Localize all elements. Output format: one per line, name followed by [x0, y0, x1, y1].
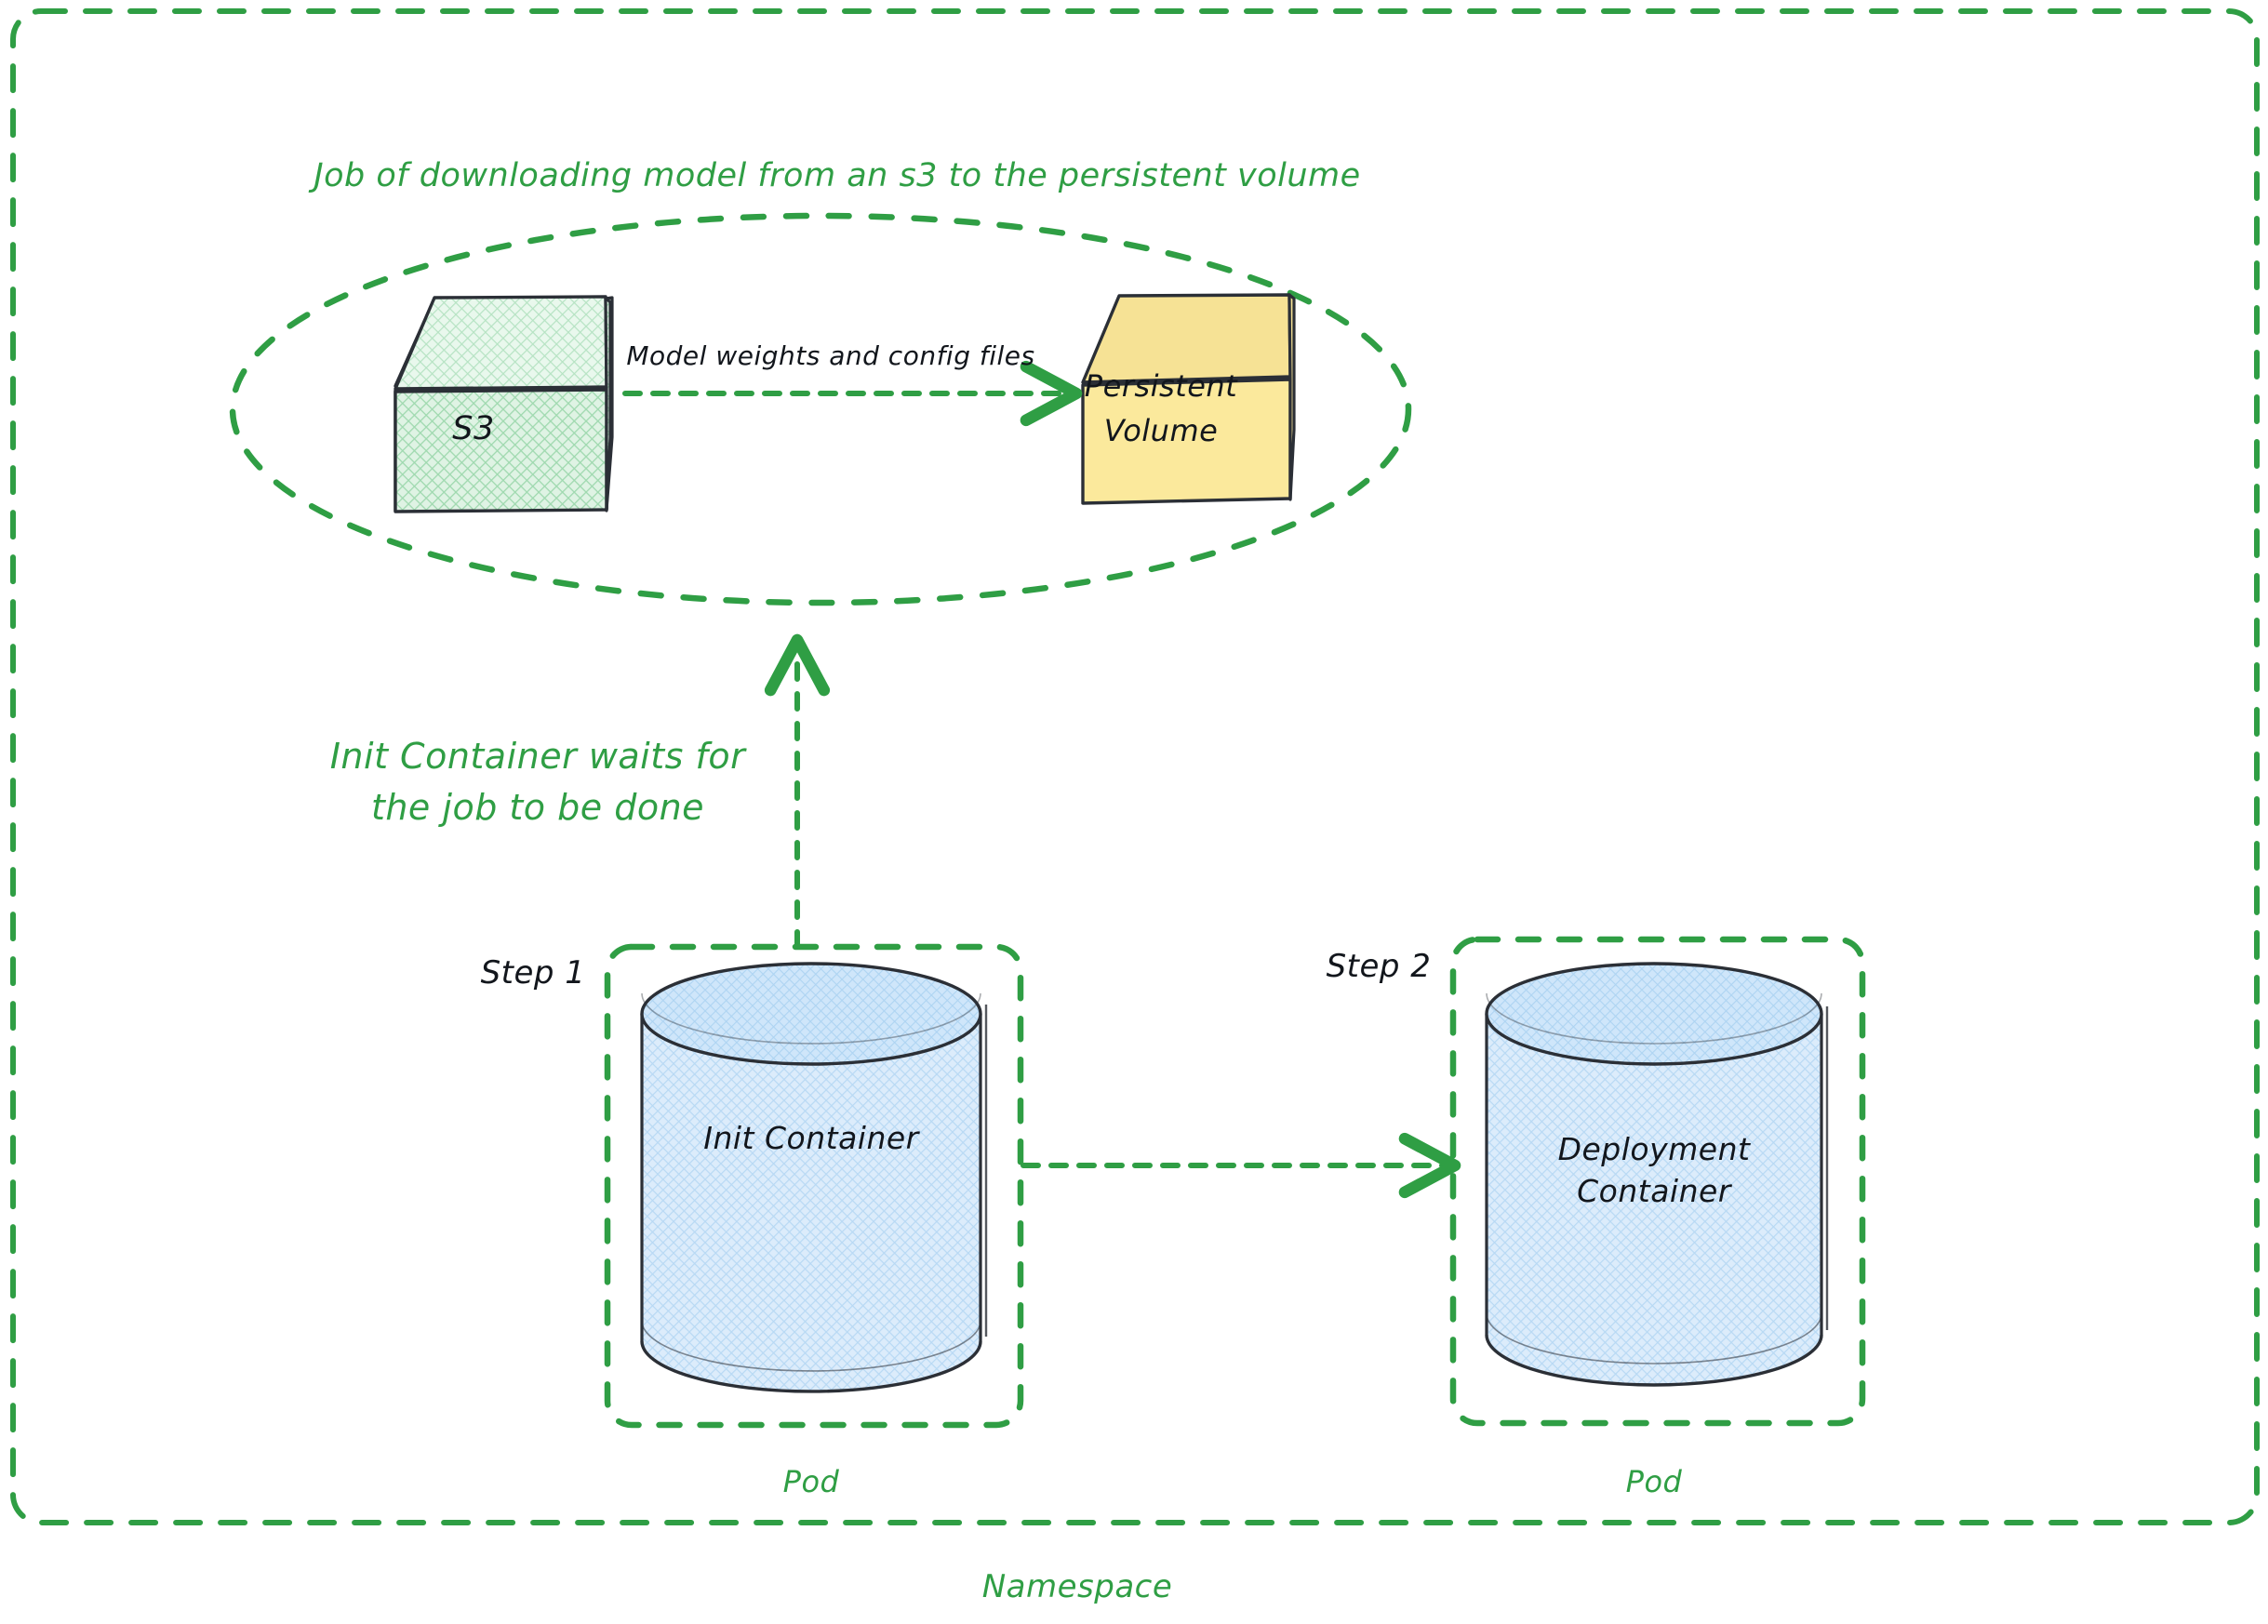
- persistent-volume-label-line2: Volume: [1104, 412, 1219, 449]
- pod-2-label: Pod: [1626, 1463, 1683, 1500]
- s3-node-label: S3: [452, 409, 495, 450]
- namespace-label: Namespace: [982, 1567, 1173, 1607]
- step-2-label: Step 2: [1327, 947, 1432, 987]
- pod-1-label: Pod: [783, 1463, 840, 1500]
- job-group-title-note: Job of downloading model from an s3 to t…: [314, 156, 1360, 197]
- persistent-volume-label-line1: Persistent: [1085, 367, 1237, 405]
- s3-cube: [395, 297, 610, 512]
- diagram-vector-layer: [0, 0, 2268, 1624]
- deployment-container-label-line2: Container: [1577, 1172, 1731, 1210]
- diagram-canvas: Job of downloading model from an s3 to t…: [0, 0, 2268, 1624]
- init-container-cylinder: [642, 964, 986, 1391]
- step-1-label: Step 1: [481, 953, 586, 993]
- deployment-container-label-line1: Deployment: [1558, 1130, 1751, 1168]
- init-wait-note-line2: the job to be done: [371, 786, 704, 831]
- init-container-label: Init Container: [703, 1119, 919, 1157]
- init-wait-note-line1: Init Container waits for: [330, 735, 746, 779]
- edge-label-model-weights: Model weights and config files: [626, 339, 1034, 372]
